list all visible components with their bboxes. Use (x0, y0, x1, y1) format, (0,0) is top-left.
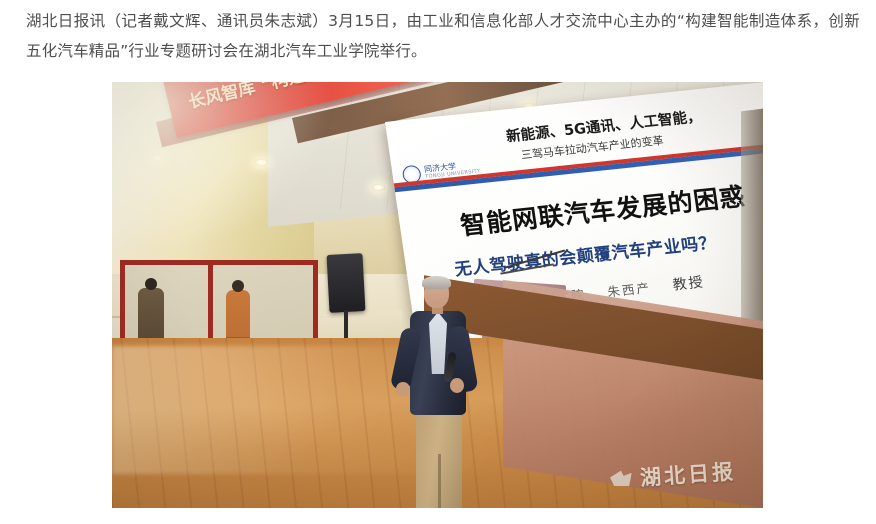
presenter-hand (450, 378, 464, 393)
presenter-hair (422, 276, 451, 289)
presenter-hand (396, 382, 410, 396)
ceiling-light (255, 159, 268, 166)
presenter (390, 278, 482, 508)
presenter-leg-seam (438, 454, 441, 508)
photo-canvas: 长风智库 “构建智能… 同济大学 TONGJI UNIVERSITY 新能源、5… (112, 82, 763, 508)
article-paragraph: 湖北日报讯（记者戴文辉、通讯员朱志斌）3月15日，由工业和信息化部人才交流中心主… (26, 6, 860, 66)
article-body: 湖北日报讯（记者戴文辉、通讯员朱志斌）3月15日，由工业和信息化部人才交流中心主… (26, 6, 860, 66)
presenter-shirt (429, 312, 447, 374)
hubei-daily-logo-icon (610, 470, 633, 487)
credit-title: 教授 (672, 274, 706, 293)
article-photo: 长风智库 “构建智能… 同济大学 TONGJI UNIVERSITY 新能源、5… (112, 82, 763, 508)
loudspeaker-on-stand (327, 253, 366, 313)
article-page: 湖北日报讯（记者戴文辉、通讯员朱志斌）3月15日，由工业和信息化部人才交流中心主… (0, 0, 876, 524)
